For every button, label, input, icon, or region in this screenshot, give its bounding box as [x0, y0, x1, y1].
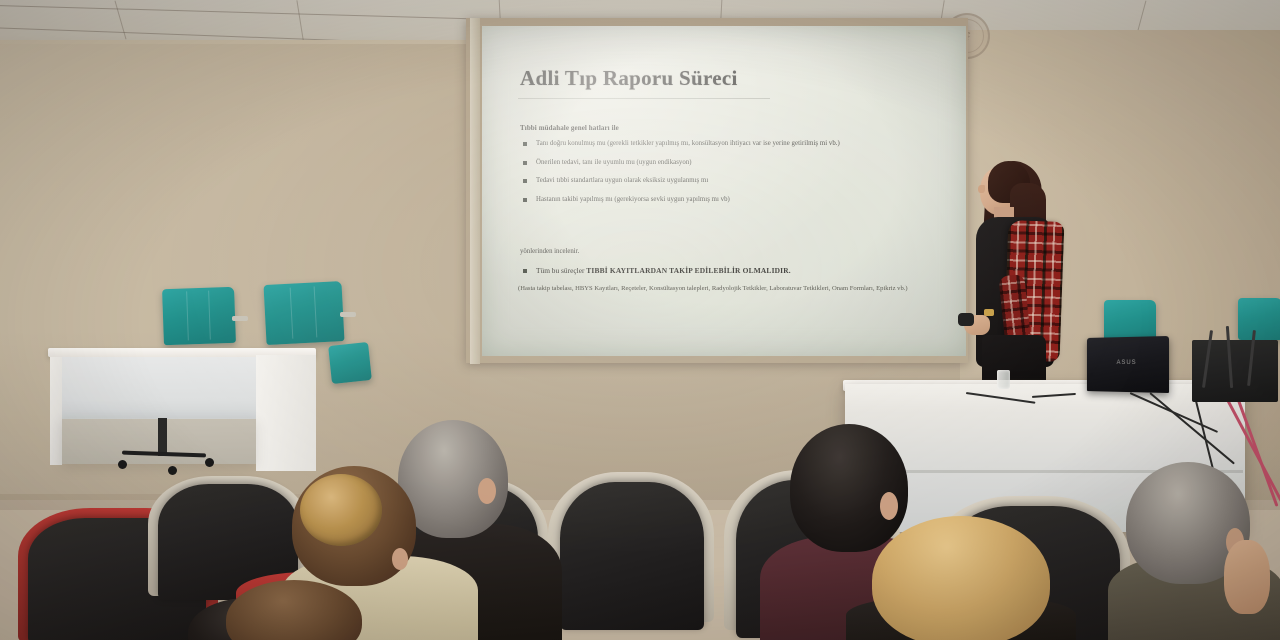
- hair-bun: [300, 474, 382, 546]
- bullet-text: Tanı doğru konulmuş mu (gerekli tetkikle…: [536, 140, 840, 147]
- square-bullet-icon: [523, 179, 527, 183]
- teal-chair-back-left: [162, 287, 236, 345]
- ear: [478, 478, 496, 504]
- chair-arm: [232, 316, 248, 321]
- audience-seat: [560, 482, 704, 630]
- list-item: Önerilen tedavi, tanı ile uyumlu mu (uyg…: [520, 158, 920, 169]
- audience-member-young-man: [790, 424, 908, 552]
- square-bullet-icon: [523, 198, 527, 202]
- teal-chair-far-right: [1238, 298, 1280, 340]
- projection-screen: Adli Tıp Raporu Süreci Tıbbi müdahale ge…: [482, 26, 966, 356]
- side-desk-right-leg: [256, 355, 316, 471]
- slide-lead-text: Tıbbi müdahale genel hatları ile: [520, 124, 910, 132]
- slide-mid-line: yönlerinden incelenir.: [520, 248, 920, 255]
- slide-bullet-list: Tanı doğru konulmuş mu (gerekli tetkikle…: [520, 139, 920, 213]
- list-item: Hastanın takibi yapılmış mı (gerekiyorsa…: [520, 195, 920, 206]
- chair-caster: [205, 458, 214, 467]
- presentation-slide: Adli Tıp Raporu Süreci Tıbbi müdahale ge…: [482, 26, 966, 356]
- ear: [880, 492, 898, 520]
- water-glass: [997, 370, 1010, 389]
- side-desk-left-leg: [50, 357, 62, 465]
- square-bullet-icon: [523, 269, 527, 273]
- slide-title-underline: [518, 98, 770, 99]
- chair-caster: [168, 466, 177, 475]
- presentation-clicker[interactable]: [958, 313, 974, 326]
- projection-screen-rail: [470, 18, 480, 364]
- bullet-text: Önerilen tedavi, tanı ile uyumlu mu (uyg…: [536, 159, 692, 166]
- teal-chair-seat: [328, 342, 372, 384]
- laptop-brand-label: ASUS: [1117, 360, 1137, 366]
- bullet-text: Hastanın takibi yapılmış mı (gerekiyorsa…: [536, 196, 730, 203]
- chair-caster: [118, 460, 127, 469]
- presenter-profile-nose: [978, 185, 985, 193]
- emphasis-prefix: Tüm bu süreçler: [536, 266, 586, 275]
- list-item: Tedavi tıbbi standartlara uygun olarak e…: [520, 176, 920, 187]
- slide-title: Adli Tıp Raporu Süreci: [520, 66, 738, 91]
- audience-member-blonde-woman: [872, 516, 1050, 640]
- square-bullet-icon: [523, 161, 527, 165]
- slide-emphasis-bullet: Tüm bu süreçler TIBBİ KAYITLARDAN TAKİP …: [520, 266, 956, 275]
- ear: [392, 548, 408, 570]
- presenter-laptop[interactable]: ASUS: [1087, 336, 1169, 393]
- chair-arm: [340, 312, 356, 317]
- list-item: Tanı doğru konulmuş mu (gerekli tetkikle…: [520, 139, 920, 150]
- square-bullet-icon: [523, 142, 527, 146]
- emphasis-strong: TIBBİ KAYITLARDAN TAKİP EDİLEBİLİR OLMAL…: [586, 266, 791, 275]
- side-desk-front-panel: [60, 357, 256, 419]
- presentation-photo-scene: ⚕ Adli Tıp Raporu Süreci Tıbbi müdahale …: [0, 0, 1280, 640]
- slide-note-text: (Hasta takip tabelası, HBYS Kayıtları, R…: [518, 284, 918, 295]
- bullet-text: Tedavi tıbbi standartlara uygun olarak e…: [536, 177, 708, 184]
- chair-stem: [158, 418, 167, 456]
- teal-chair-back-right: [263, 281, 344, 345]
- audience-hand: [1224, 540, 1270, 614]
